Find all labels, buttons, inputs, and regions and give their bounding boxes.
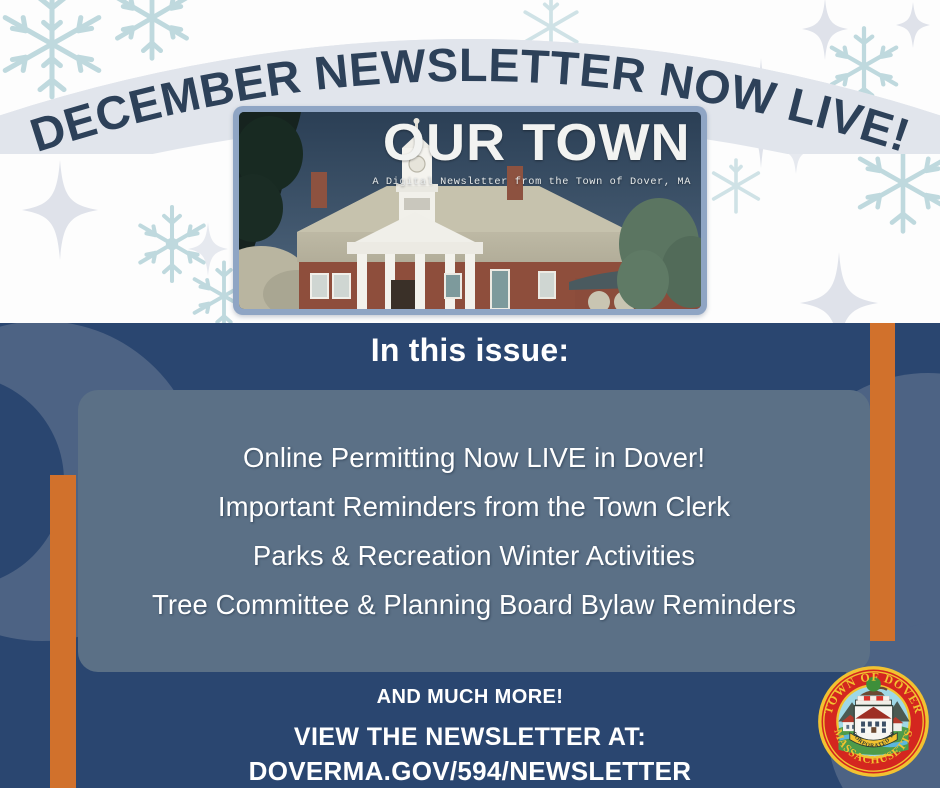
orange-accent-bar-right xyxy=(870,323,895,641)
newsletter-url[interactable]: DOVERMA.GOV/594/NEWSLETTER xyxy=(0,756,940,787)
cover-subtitle: A Digital Newsletter from the Town of Do… xyxy=(372,176,691,188)
list-item: Parks & Recreation Winter Activities xyxy=(253,531,695,580)
and-much-more-text: AND MUCH MORE! xyxy=(0,686,940,709)
town-house-photo: OUR TOWN A Digital Newsletter from the T… xyxy=(239,112,701,309)
winter-header-band: DECEMBER NEWSLETTER NOW LIVE! xyxy=(0,0,940,323)
four-point-star-icon xyxy=(800,252,878,323)
list-item: Online Permitting Now LIVE in Dover! xyxy=(243,433,705,482)
newsletter-announcement-poster: DECEMBER NEWSLETTER NOW LIVE! xyxy=(0,0,940,788)
four-point-star-icon xyxy=(188,222,228,276)
footer-call-to-action: AND MUCH MORE! VIEW THE NEWSLETTER AT: D… xyxy=(0,686,940,787)
list-item: Tree Committee & Planning Board Bylaw Re… xyxy=(152,580,796,629)
cover-title: OUR TOWN xyxy=(360,116,691,170)
newsletter-cover-thumbnail[interactable]: OUR TOWN A Digital Newsletter from the T… xyxy=(233,106,707,315)
issue-contents-panel: Online Permitting Now LIVE in Dover! Imp… xyxy=(78,390,870,672)
four-point-star-icon xyxy=(22,160,98,260)
town-of-dover-seal: INCORPORATED 1836 TOWN OF DOVER MASSACHU… xyxy=(817,665,930,778)
view-newsletter-label: VIEW THE NEWSLETTER AT: xyxy=(0,723,940,752)
list-item: Important Reminders from the Town Clerk xyxy=(218,482,730,531)
cover-masthead: OUR TOWN A Digital Newsletter from the T… xyxy=(372,116,691,188)
in-this-issue-heading: In this issue: xyxy=(0,332,940,369)
